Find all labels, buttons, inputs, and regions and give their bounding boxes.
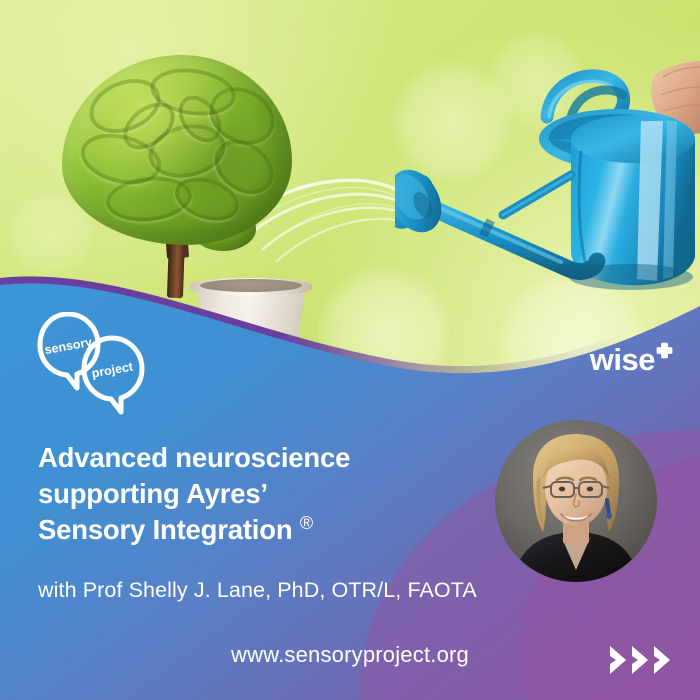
brain-mass — [62, 55, 292, 245]
promotional-poster: sensory project wise — [0, 0, 700, 700]
title-line-1: Advanced neuroscience — [38, 440, 468, 476]
registered-trademark-symbol: ® — [300, 513, 313, 533]
sensory-project-logo[interactable]: sensory project — [36, 312, 152, 416]
page-title: Advanced neuroscience supporting Ayres’ … — [38, 440, 468, 547]
website-url[interactable]: www.sensoryproject.org — [0, 642, 700, 668]
speaker-portrait — [495, 420, 657, 582]
brain-plant-icon — [62, 55, 292, 245]
wise-wordmark: wise — [590, 342, 655, 377]
speech-bubbles-icon: sensory project — [36, 312, 152, 416]
triple-chevron-right-icon — [608, 644, 676, 676]
watering-can-rose — [395, 161, 452, 242]
title-line-2: supporting Ayres’ — [38, 476, 468, 512]
title-line-3-wrap: Sensory Integration ® — [38, 512, 468, 548]
bubble-project: project — [84, 338, 142, 412]
speaker-credit: with Prof Shelly J. Lane, PhD, OTR/L, FA… — [38, 578, 538, 604]
bubble-project-label: project — [91, 359, 135, 380]
plus-icon — [656, 333, 673, 350]
avatar — [495, 420, 657, 582]
title-line-3: Sensory Integration — [38, 514, 292, 545]
wise-plus-logo[interactable]: wise — [590, 344, 672, 375]
